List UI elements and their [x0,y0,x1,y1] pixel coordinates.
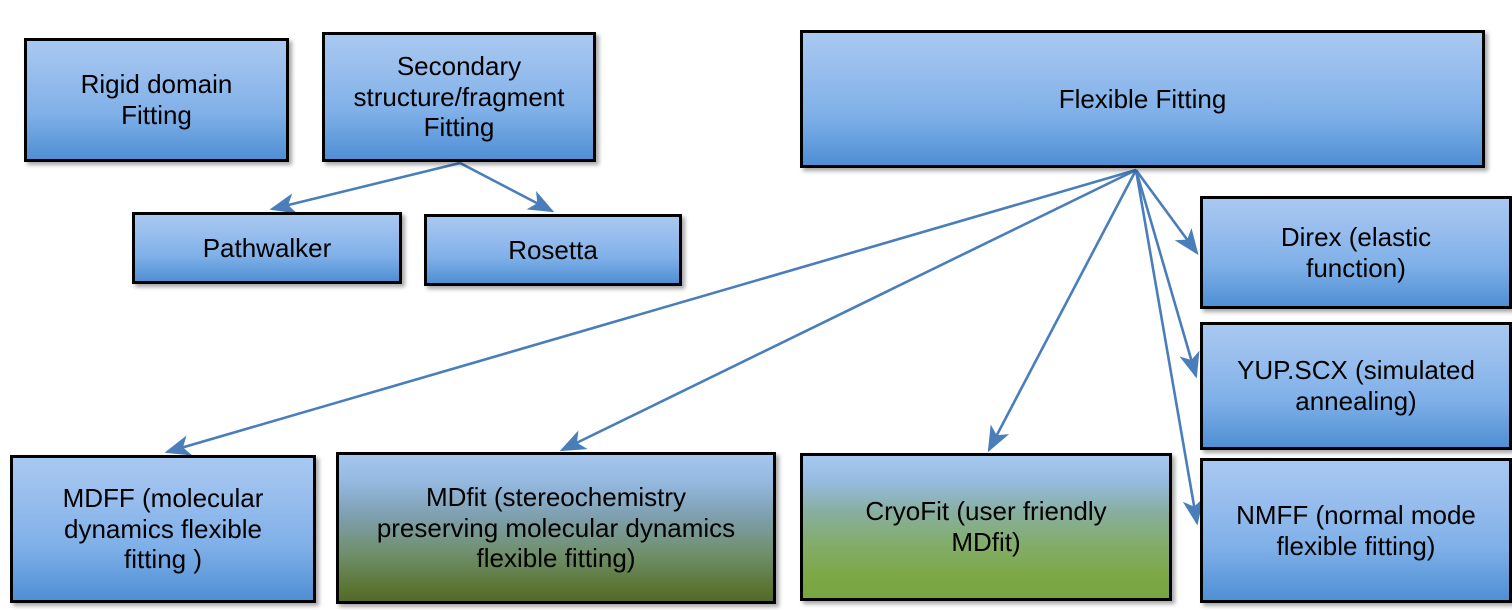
node-flexible-fitting[interactable]: Flexible Fitting [800,30,1485,168]
node-mdff[interactable]: MDFF (molecular dynamics flexible fittin… [10,455,316,603]
node-secondary-structure-fragment-fitting[interactable]: Secondary structure/fragment Fitting [322,32,596,162]
diagram-canvas: Rigid domain FittingSecondary structure/… [0,0,1512,610]
node-mdfit[interactable]: MDfit (stereochemistry preserving molecu… [336,452,776,604]
connector-flexible-to-direx [1136,170,1197,253]
node-cryofit[interactable]: CryoFit (user friendly MDfit) [800,453,1172,601]
node-nmff[interactable]: NMFF (normal mode flexible fitting) [1200,458,1512,603]
node-label-flexible-fitting: Flexible Fitting [1059,84,1227,115]
node-direx[interactable]: Direx (elastic function) [1200,196,1512,309]
node-label-pathwalker: Pathwalker [203,233,332,264]
node-label-rosetta: Rosetta [508,235,598,266]
connector-flexible-to-cryofit [989,170,1136,450]
connector-secondary-to-pathwalker [272,163,460,209]
node-label-direx: Direx (elastic function) [1281,222,1431,283]
node-label-rigid-domain-fitting: Rigid domain Fitting [81,69,233,130]
node-label-mdff: MDFF (molecular dynamics flexible fittin… [63,483,264,575]
node-rigid-domain-fitting[interactable]: Rigid domain Fitting [24,38,289,162]
node-pathwalker[interactable]: Pathwalker [132,212,402,284]
connector-flexible-to-yupscx [1136,170,1196,376]
node-label-secondary-structure-fragment-fitting: Secondary structure/fragment Fitting [354,51,565,143]
node-label-nmff: NMFF (normal mode flexible fitting) [1236,500,1476,561]
connector-flexible-to-mdfit [562,170,1136,450]
node-label-mdfit: MDfit (stereochemistry preserving molecu… [377,482,735,574]
connector-secondary-to-rosetta [460,163,552,211]
node-label-yup-scx: YUP.SCX (simulated annealing) [1237,355,1475,416]
node-yup-scx[interactable]: YUP.SCX (simulated annealing) [1200,322,1512,450]
node-rosetta[interactable]: Rosetta [424,214,682,286]
node-label-cryofit: CryoFit (user friendly MDfit) [865,496,1106,557]
